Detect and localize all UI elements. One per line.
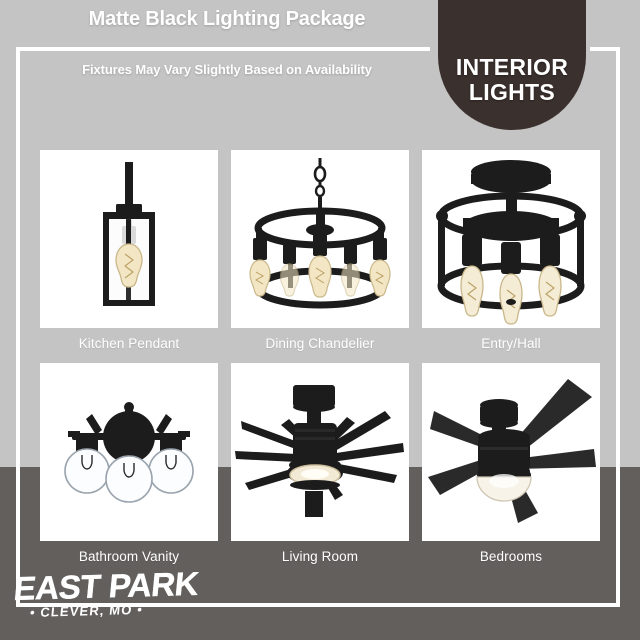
product-grid: Kitchen Pendant bbox=[40, 150, 600, 564]
product-image-card bbox=[422, 150, 600, 328]
product-caption: Entry/Hall bbox=[422, 336, 600, 351]
product-image-card bbox=[422, 363, 600, 541]
living-room-ceiling-fan-icon bbox=[231, 363, 409, 541]
logo-name: EAST PARK bbox=[12, 567, 206, 605]
bathroom-vanity-icon bbox=[40, 363, 218, 541]
product-row-2: Bathroom Vanity bbox=[40, 363, 600, 564]
product-cell-dining-chandelier[interactable]: Dining Chandelier bbox=[231, 150, 409, 351]
product-image-card bbox=[40, 150, 218, 328]
badge-line-1: INTERIOR bbox=[456, 55, 568, 81]
entry-hall-semiflush-icon bbox=[422, 150, 600, 328]
product-image-card bbox=[231, 150, 409, 328]
product-cell-bathroom-vanity[interactable]: Bathroom Vanity bbox=[40, 363, 218, 564]
product-caption: Bedrooms bbox=[422, 549, 600, 564]
dining-chandelier-icon bbox=[231, 150, 409, 328]
product-caption: Dining Chandelier bbox=[231, 336, 409, 351]
interior-lights-badge: INTERIOR LIGHTS bbox=[438, 0, 586, 130]
kitchen-pendant-icon bbox=[40, 150, 218, 328]
product-cell-bedrooms[interactable]: Bedrooms bbox=[422, 363, 600, 564]
product-cell-living-room[interactable]: Living Room bbox=[231, 363, 409, 564]
badge-line-2: LIGHTS bbox=[469, 80, 555, 106]
product-caption: Kitchen Pendant bbox=[40, 336, 218, 351]
product-image-card bbox=[231, 363, 409, 541]
product-cell-entry-hall[interactable]: Entry/Hall bbox=[422, 150, 600, 351]
bedrooms-ceiling-fan-icon bbox=[422, 363, 600, 541]
east-park-logo: EAST PARK • CLEVER, MO • bbox=[14, 572, 204, 630]
page-title: Matte Black Lighting Package bbox=[22, 8, 432, 31]
logo-location: • CLEVER, MO • bbox=[29, 601, 205, 619]
product-caption: Bathroom Vanity bbox=[40, 549, 218, 564]
poster-root: Matte Black Lighting Package Fixtures Ma… bbox=[0, 0, 640, 640]
product-caption: Living Room bbox=[231, 549, 409, 564]
product-cell-kitchen-pendant[interactable]: Kitchen Pendant bbox=[40, 150, 218, 351]
page-subtitle: Fixtures May Vary Slightly Based on Avai… bbox=[22, 62, 432, 77]
product-image-card bbox=[40, 363, 218, 541]
product-row-1: Kitchen Pendant bbox=[40, 150, 600, 351]
